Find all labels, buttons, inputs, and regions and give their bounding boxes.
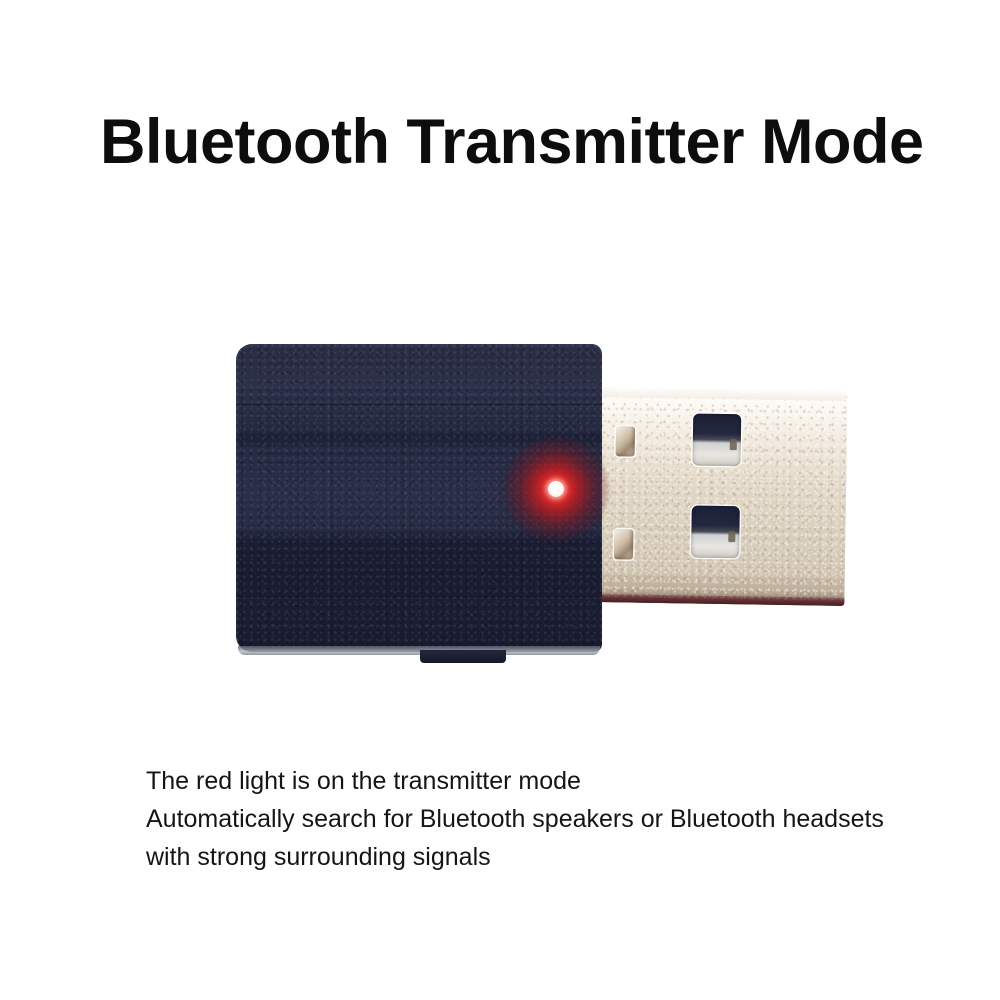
caption-line-2: Automatically search for Bluetooth speak… (146, 800, 946, 838)
dongle-housing (236, 344, 602, 652)
housing-seam-lower (236, 596, 602, 599)
caption-line-3: with strong surrounding signals (146, 838, 946, 876)
usb-shell-window-top (692, 413, 741, 466)
usb-window-nub-top (730, 439, 737, 450)
usb-connector-shell (596, 386, 847, 606)
housing-bottom-nub (420, 650, 506, 663)
usb-contact-tab-bottom (614, 529, 633, 559)
page-title: Bluetooth Transmitter Mode (100, 106, 920, 178)
usb-connector-top-lip (602, 386, 846, 401)
caption-block: The red light is on the transmitter mode… (146, 762, 946, 876)
caption-line-1: The red light is on the transmitter mode (146, 762, 946, 800)
status-led-core (548, 481, 564, 497)
usb-shell-window-bottom (691, 505, 740, 558)
usb-contact-tab-top (616, 426, 635, 456)
product-info-page: Bluetooth Transmitter Mode (0, 0, 1000, 1000)
usb-a-connector (596, 386, 847, 606)
usb-window-nub-bottom (728, 531, 735, 542)
usb-connector-bottom-edge (596, 594, 844, 606)
housing-bottom-strip (238, 646, 600, 655)
status-led-glow (503, 436, 609, 542)
housing-seam-upper (236, 404, 602, 407)
